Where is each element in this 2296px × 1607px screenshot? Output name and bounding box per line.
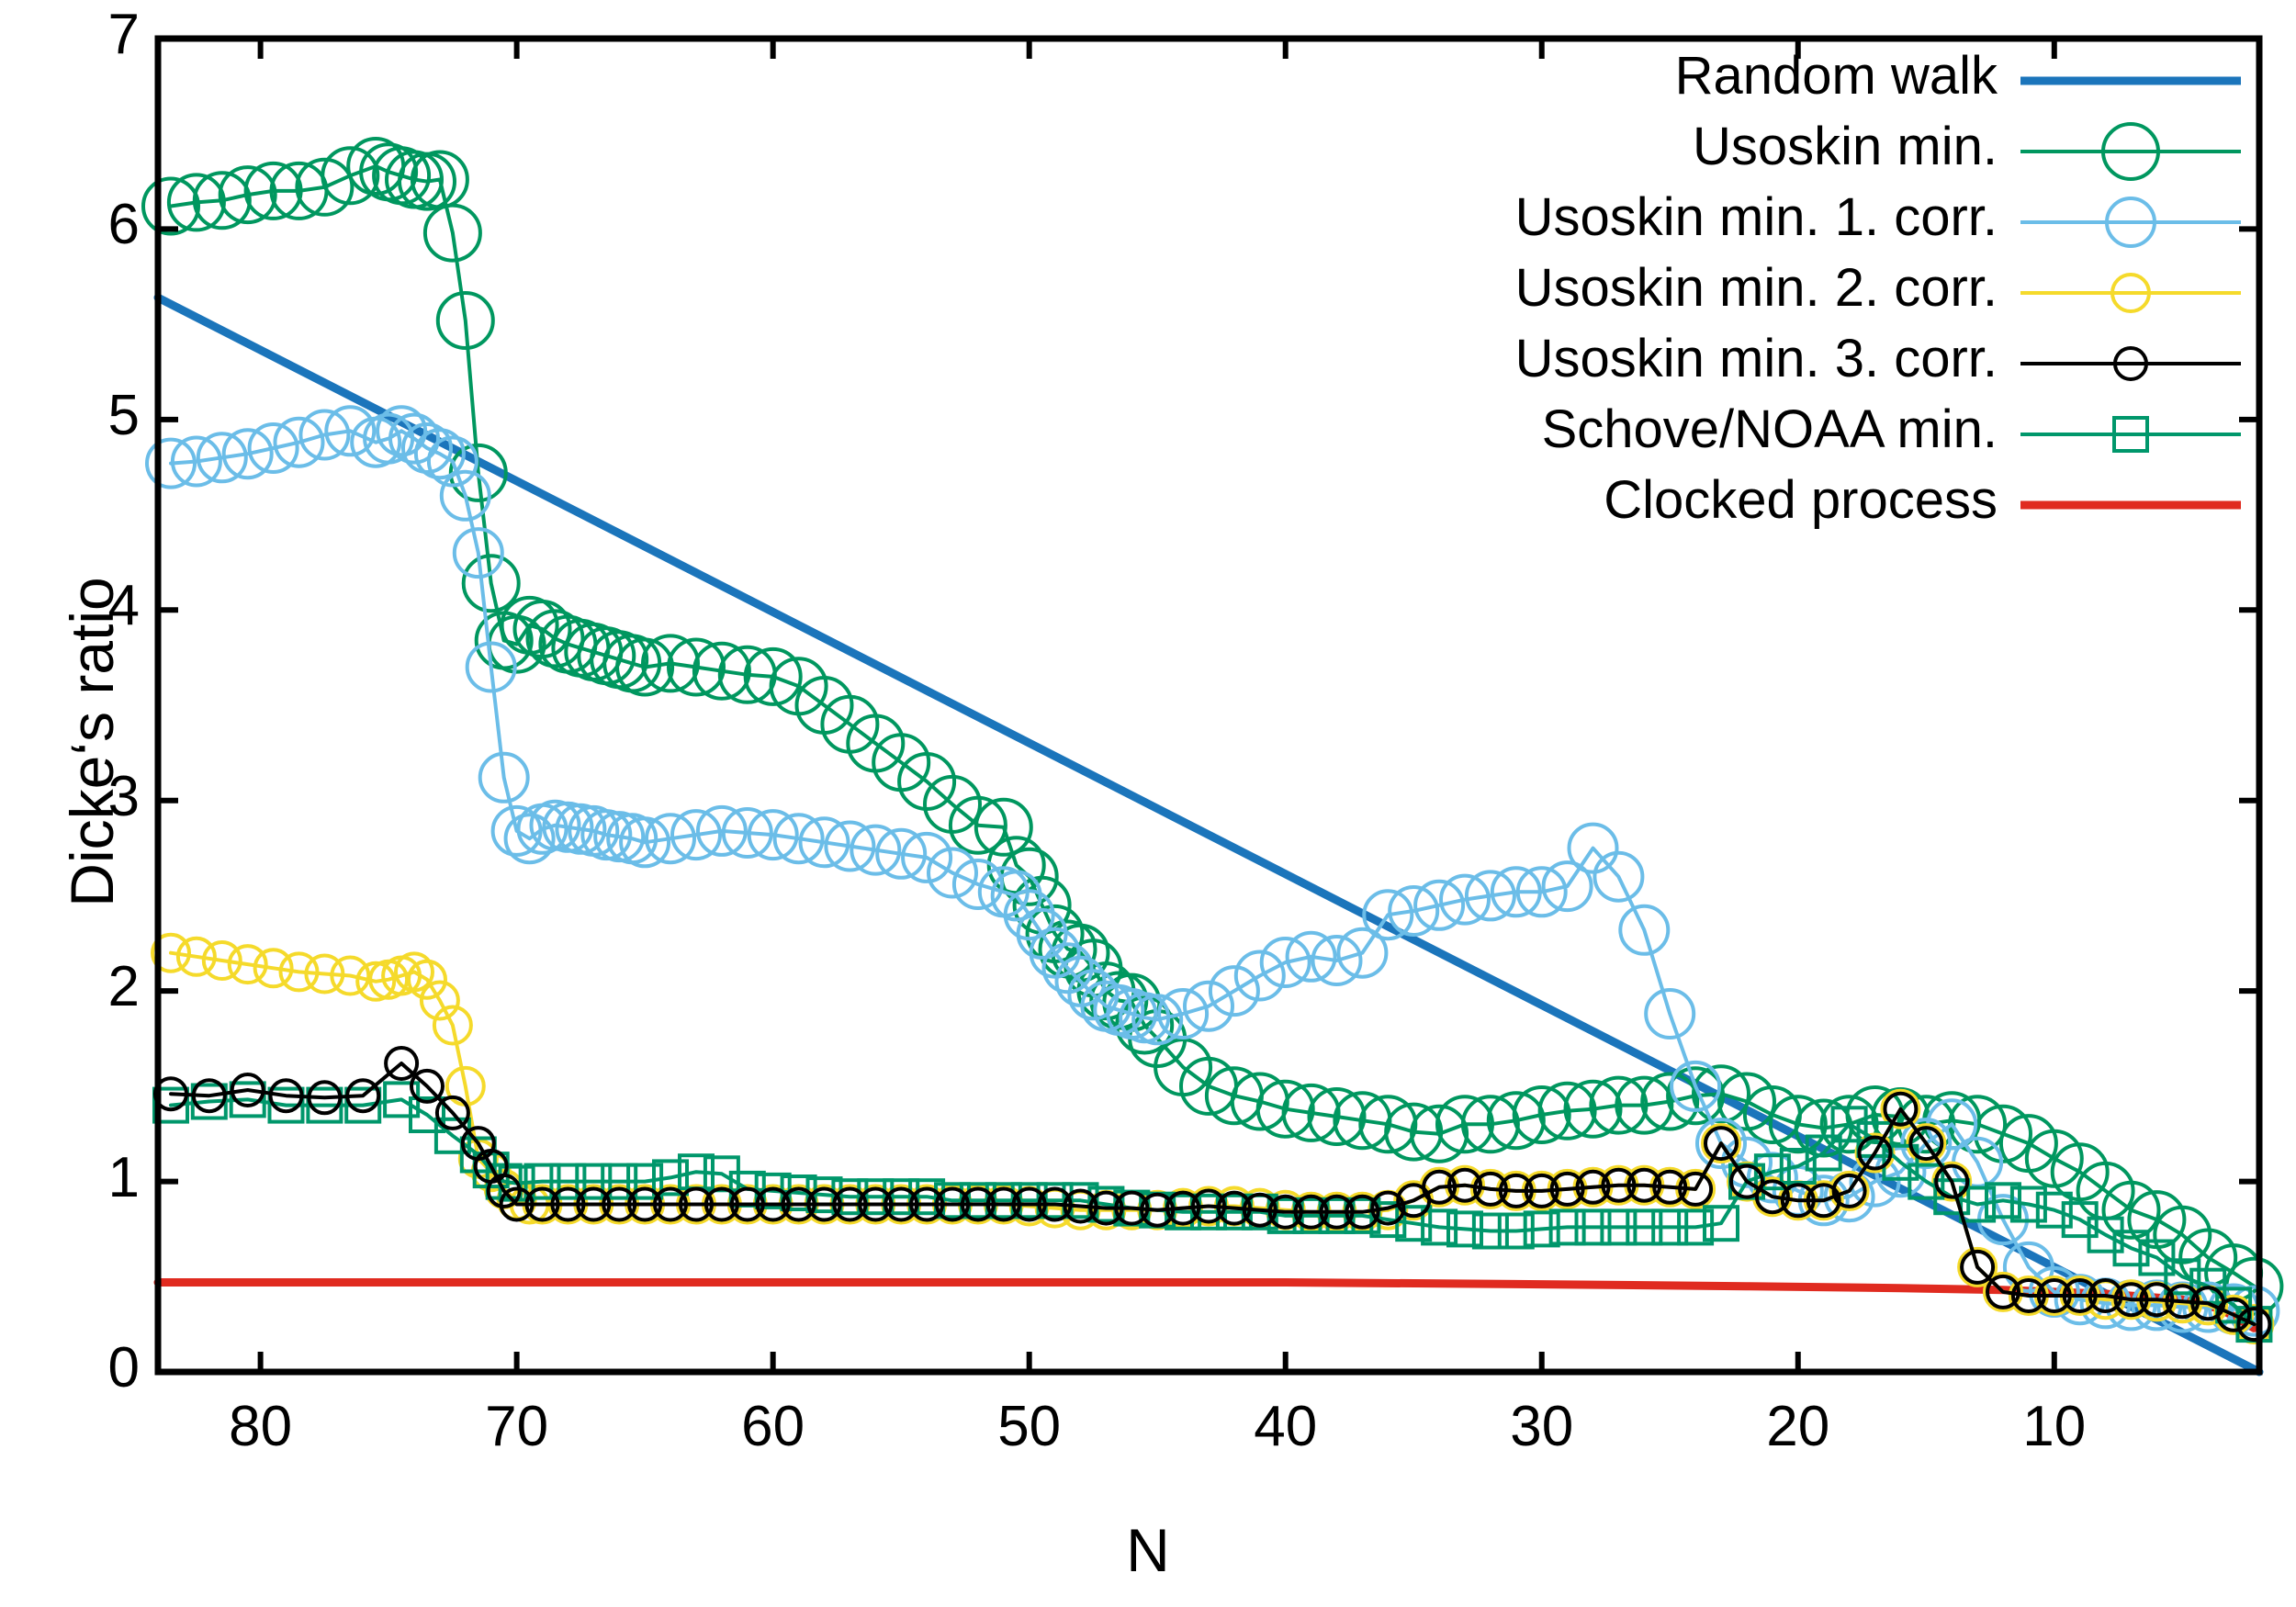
x-tick-label: 80 [187,1394,334,1459]
y-tick-label: 3 [57,764,140,829]
y-tick-label: 7 [57,2,140,67]
legend-item-label: Usoskin min. [1693,116,1998,177]
legend-item-label: Usoskin min. 3. corr. [1515,328,1998,389]
y-tick-label: 1 [57,1145,140,1210]
x-axis-title: N [0,1515,2296,1585]
legend-keys [2020,81,2241,505]
y-tick-label: 0 [57,1335,140,1400]
legend-item-label: Usoskin min. 2. corr. [1515,257,1998,319]
x-tick-label: 40 [1212,1394,1359,1459]
x-tick-label: 20 [1725,1394,1872,1459]
y-tick-label: 2 [57,954,140,1019]
y-tick-label: 4 [57,573,140,638]
y-tick-label: 6 [57,192,140,257]
series-line [158,1283,2254,1329]
series-clocked-process [158,1283,2254,1329]
x-tick-label: 10 [1981,1394,2128,1459]
y-tick-label: 5 [57,383,140,448]
x-tick-label: 30 [1469,1394,1615,1459]
x-tick-label: 60 [700,1394,847,1459]
x-tick-label: 50 [956,1394,1103,1459]
legend-item-label: Clocked process [1604,469,1998,531]
series-layer [143,139,2281,1372]
legend-item-label: Usoskin min. 1. corr. [1515,186,1998,248]
chart-figure: Dicke‘s ratio N 01234567 807060504030201… [0,0,2296,1607]
legend-item-label: Random walk [1675,45,1998,107]
legend-item-label: Schove/NOAA min. [1542,399,1998,460]
x-tick-label: 70 [444,1394,591,1459]
